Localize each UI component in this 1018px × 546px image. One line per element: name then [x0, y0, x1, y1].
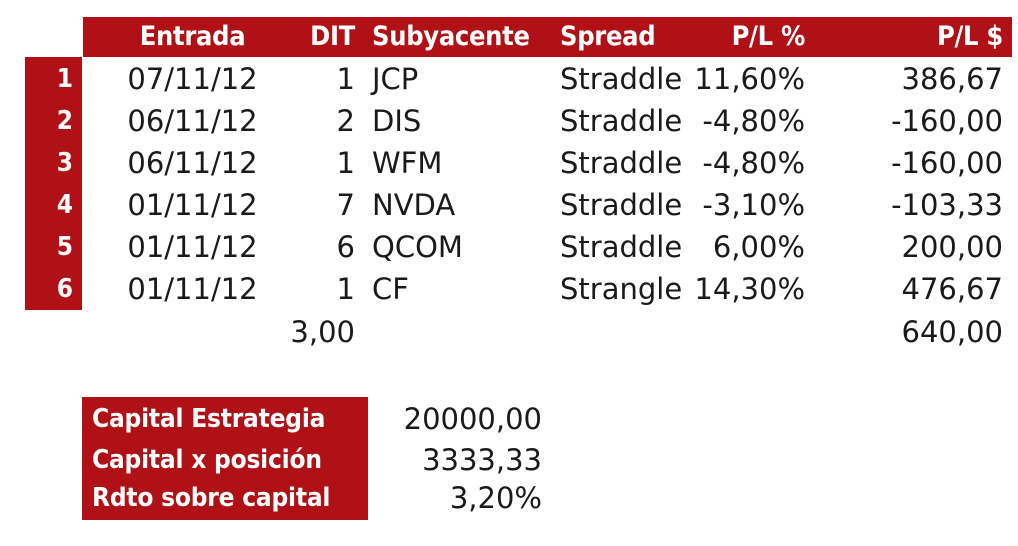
cell-pl-dollar: -160,00 — [810, 142, 1003, 184]
summary-label-capital-estrategia: Capital Estrategia — [92, 399, 325, 440]
cell-pl-dollar: 200,00 — [810, 226, 1003, 268]
cell-pl-percent: 11,60% — [620, 58, 805, 100]
cell-subyacente: NVDA — [372, 184, 552, 226]
row-index: 4 — [25, 184, 73, 226]
table-row: 4 01/11/12 7 NVDA Straddle -3,10% -103,3… — [0, 184, 1018, 226]
row-index: 2 — [25, 100, 73, 142]
total-dit: 3,00 — [255, 311, 355, 353]
cell-subyacente: JCP — [372, 58, 552, 100]
cell-pl-percent: 6,00% — [620, 226, 805, 268]
cell-dit: 1 — [255, 58, 355, 100]
cell-pl-percent: -4,80% — [620, 142, 805, 184]
summary-row: Capital Estrategia 20000,00 — [0, 399, 460, 440]
total-pl-dollar: 640,00 — [810, 311, 1003, 353]
summary-label-rdto-sobre-capital: Rdto sobre capital — [92, 478, 330, 519]
cell-dit: 7 — [255, 184, 355, 226]
table-row: 3 06/11/12 1 WFM Straddle -4,80% -160,00 — [0, 142, 1018, 184]
cell-subyacente: WFM — [372, 142, 552, 184]
row-index: 5 — [25, 226, 73, 268]
cell-pl-dollar: -160,00 — [810, 100, 1003, 142]
table-row: 5 01/11/12 6 QCOM Straddle 6,00% 200,00 — [0, 226, 1018, 268]
summary-value-capital-por-posicion: 3333,33 — [372, 440, 542, 481]
cell-pl-dollar: 476,67 — [810, 268, 1003, 310]
cell-pl-dollar: 386,67 — [810, 58, 1003, 100]
row-index: 6 — [25, 268, 73, 310]
cell-pl-percent: -4,80% — [620, 100, 805, 142]
table-totals-row: 3,00 640,00 — [0, 311, 1018, 353]
cell-subyacente: QCOM — [372, 226, 552, 268]
table-row: 2 06/11/12 2 DIS Straddle -4,80% -160,00 — [0, 100, 1018, 142]
cell-dit: 1 — [255, 268, 355, 310]
summary-label-capital-por-posicion: Capital x posición — [92, 440, 322, 481]
table-header-row: Entrada DIT Subyacente Spread P/L % P/L … — [0, 17, 1018, 57]
table-row: 6 01/11/12 1 CF Strangle 14,30% 476,67 — [0, 268, 1018, 310]
row-index: 3 — [25, 142, 73, 184]
summary-value-rdto-sobre-capital: 3,20% — [372, 478, 542, 519]
cell-dit: 2 — [255, 100, 355, 142]
column-header-pl-percent: P/L % — [620, 17, 805, 57]
cell-subyacente: DIS — [372, 100, 552, 142]
cell-pl-dollar: -103,33 — [810, 184, 1003, 226]
column-header-subyacente: Subyacente — [372, 17, 552, 57]
summary-value-capital-estrategia: 20000,00 — [372, 399, 542, 440]
summary-row: Rdto sobre capital 3,20% — [0, 478, 460, 519]
cell-subyacente: CF — [372, 268, 552, 310]
cell-dit: 1 — [255, 142, 355, 184]
table-row: 1 07/11/12 1 JCP Straddle 11,60% 386,67 — [0, 58, 1018, 100]
cell-dit: 6 — [255, 226, 355, 268]
column-header-pl-dollar: P/L $ — [810, 17, 1003, 57]
cell-pl-percent: 14,30% — [620, 268, 805, 310]
cell-pl-percent: -3,10% — [620, 184, 805, 226]
row-index: 1 — [25, 58, 73, 100]
column-header-dit: DIT — [255, 17, 355, 57]
summary-row: Capital x posición 3333,33 — [0, 440, 460, 481]
